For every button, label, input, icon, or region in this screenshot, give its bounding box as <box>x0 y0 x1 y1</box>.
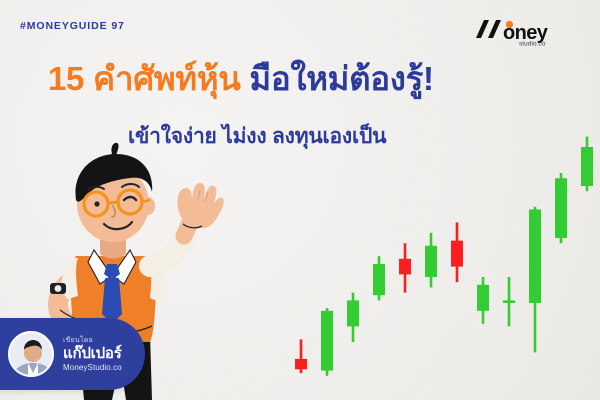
candle-body <box>581 147 593 186</box>
author-written-by-label: เขียนโดย <box>63 337 122 344</box>
hashtag-label: #MONEYGUIDE 97 <box>20 20 125 32</box>
svg-text:studio.co: studio.co <box>519 41 546 48</box>
author-name: แก๊ปเปอร์ <box>63 346 122 361</box>
candle-body <box>373 264 385 295</box>
glasses-bridge-icon <box>108 202 118 203</box>
headline-blue: มือใหม่ต้องรู้! <box>249 60 433 97</box>
candle-body <box>477 285 489 311</box>
candlestick-chart <box>288 128 600 400</box>
author-site: MoneyStudio.co <box>63 364 122 372</box>
author-card[interactable]: เขียนโดย แก๊ปเปอร์ MoneyStudio.co <box>0 318 145 390</box>
candle-body <box>347 300 359 326</box>
candle-body <box>529 209 541 303</box>
avatar <box>8 331 54 377</box>
money-studio-logo: oney studio.co <box>472 14 582 48</box>
candle-series <box>295 137 593 376</box>
candle-body <box>425 246 437 277</box>
candle-body <box>555 178 567 238</box>
logo-mark-icon: oney studio.co <box>472 14 582 48</box>
avatar-photo <box>10 333 54 377</box>
eye-left <box>94 201 99 206</box>
hand-left <box>49 293 67 307</box>
poster-canvas: #MONEYGUIDE 97 oney studio.co 15 คำศัพท์… <box>0 0 600 400</box>
headline-orange: 15 คำศัพท์หุ้น <box>48 60 241 97</box>
candle-body <box>451 241 463 267</box>
watch-face <box>55 285 62 292</box>
hair-curl <box>111 143 118 155</box>
shirt-left <box>63 258 78 300</box>
author-text-block: เขียนโดย แก๊ปเปอร์ MoneyStudio.co <box>63 337 122 372</box>
candle-body <box>399 259 411 275</box>
candle-body <box>295 359 307 369</box>
candle-body <box>503 300 515 303</box>
candle-body <box>321 311 333 371</box>
page-title: 15 คำศัพท์หุ้น มือใหม่ต้องรู้! <box>48 62 434 97</box>
